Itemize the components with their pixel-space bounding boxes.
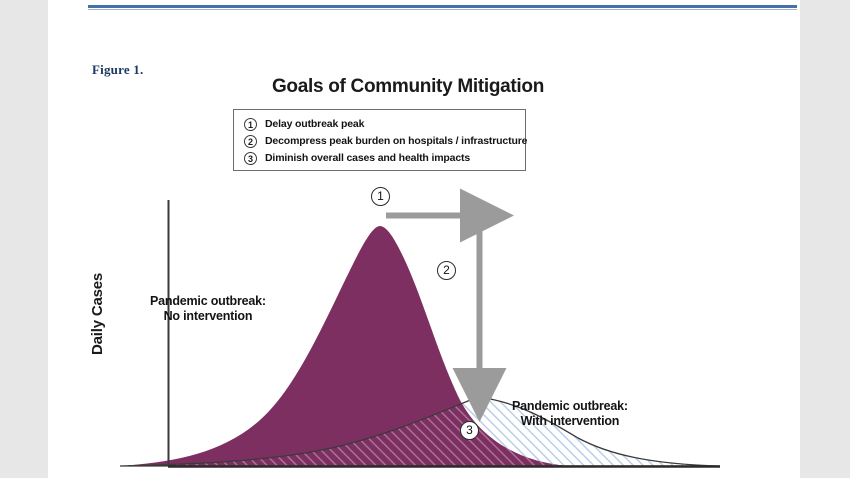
curve-label-with-intervention-line1: Pandemic outbreak: bbox=[512, 399, 628, 413]
annotation-marker-1: 1 bbox=[371, 187, 390, 206]
epidemic-curve-chart bbox=[48, 0, 800, 478]
annotation-marker-2: 2 bbox=[437, 261, 456, 280]
annotation-marker-3: 3 bbox=[460, 421, 479, 440]
curve-label-no-intervention-line2: No intervention bbox=[164, 309, 253, 323]
y-axis-label: Daily Cases bbox=[89, 273, 106, 355]
document-page: Figure 1. Goals of Community Mitigation … bbox=[48, 0, 800, 478]
curve-label-no-intervention-line1: Pandemic outbreak: bbox=[150, 294, 266, 308]
curve-label-no-intervention: Pandemic outbreak: No intervention bbox=[150, 294, 266, 324]
curve-label-with-intervention: Pandemic outbreak: With intervention bbox=[512, 399, 628, 429]
curve-label-with-intervention-line2: With intervention bbox=[521, 414, 620, 428]
